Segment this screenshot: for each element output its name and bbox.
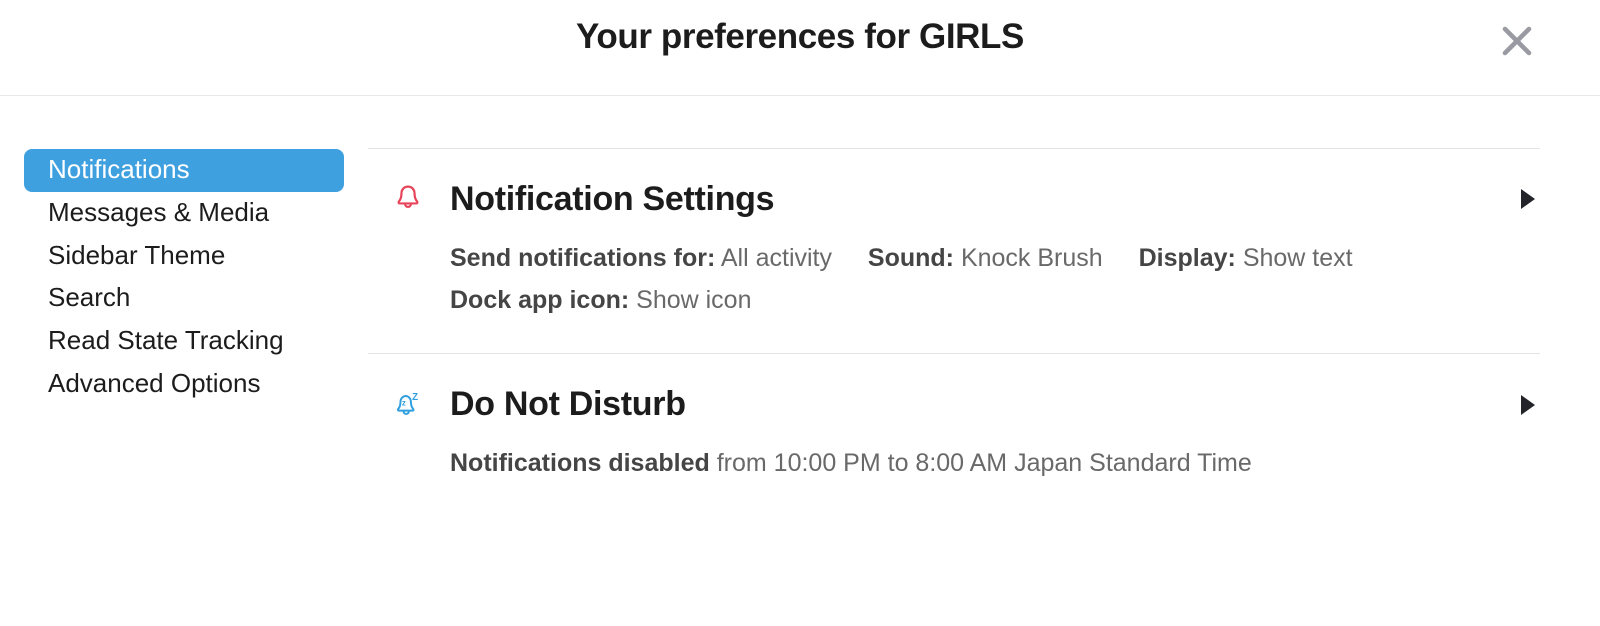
close-icon [1497,21,1537,61]
triangle-right-icon[interactable] [1514,186,1540,212]
detail-label: Sound: [868,244,954,272]
sidebar-item-read-state-tracking[interactable]: Read State Tracking [24,320,344,363]
sidebar-list: Notifications Messages & Media Sidebar T… [0,149,368,406]
section-title: Notification Settings [450,179,774,220]
modal-header: Your preferences for GIRLS [0,0,1600,96]
sidebar-item-search[interactable]: Search [24,277,344,320]
detail-value: Knock Brush [961,244,1103,272]
detail-label: Send notifications for: [450,244,715,272]
triangle-right-icon[interactable] [1514,392,1540,418]
section-summary-do-not-disturb: Notifications disabled from 10:00 PM to … [368,429,1540,517]
sidebar-item-label: Advanced Options [48,368,260,398]
modal-body: Notifications Messages & Media Sidebar T… [0,96,1600,626]
detail-line: Notifications disabled from 10:00 PM to … [450,443,1540,485]
sidebar-item-label: Notifications [48,154,190,184]
bell-sleep-icon: z Z [368,387,422,423]
sidebar-item-notifications[interactable]: Notifications [24,149,344,192]
section-do-not-disturb: z Z Do Not Disturb Notifications disable… [368,354,1540,517]
sidebar-item-advanced-options[interactable]: Advanced Options [24,363,344,406]
detail-line: Send notifications for: All activity Sou… [450,238,1540,280]
section-notification-settings: Notification Settings Send notifications… [368,149,1540,353]
sidebar-item-label: Messages & Media [48,197,269,227]
section-title: Do Not Disturb [450,384,686,425]
section-header-notification-settings[interactable]: Notification Settings [368,149,1540,224]
bell-icon [368,181,422,217]
sidebar-item-label: Read State Tracking [48,325,284,355]
section-header-do-not-disturb[interactable]: z Z Do Not Disturb [368,354,1540,429]
detail-label: Notifications disabled [450,449,710,477]
detail-value: Show text [1243,244,1353,272]
sidebar-item-label: Search [48,282,130,312]
svg-text:Z: Z [412,392,418,403]
sidebar-item-messages-media[interactable]: Messages & Media [24,192,344,235]
detail-value: All activity [721,244,832,272]
page-title: Your preferences for GIRLS [0,16,1600,58]
section-summary-notification-settings: Send notifications for: All activity Sou… [368,224,1540,354]
sidebar-item-label: Sidebar Theme [48,240,225,270]
preferences-sidebar: Notifications Messages & Media Sidebar T… [0,96,368,406]
detail-value: from 10:00 PM to 8:00 AM Japan Standard … [717,449,1252,477]
detail-value: Show icon [636,286,751,314]
detail-line: Dock app icon: Show icon [450,280,1540,322]
svg-text:z: z [402,398,406,407]
sidebar-item-sidebar-theme[interactable]: Sidebar Theme [24,235,344,278]
detail-label: Dock app icon: [450,286,629,314]
detail-label: Display: [1139,244,1236,272]
preferences-content: Notification Settings Send notifications… [368,96,1600,517]
close-button[interactable] [1494,18,1540,64]
